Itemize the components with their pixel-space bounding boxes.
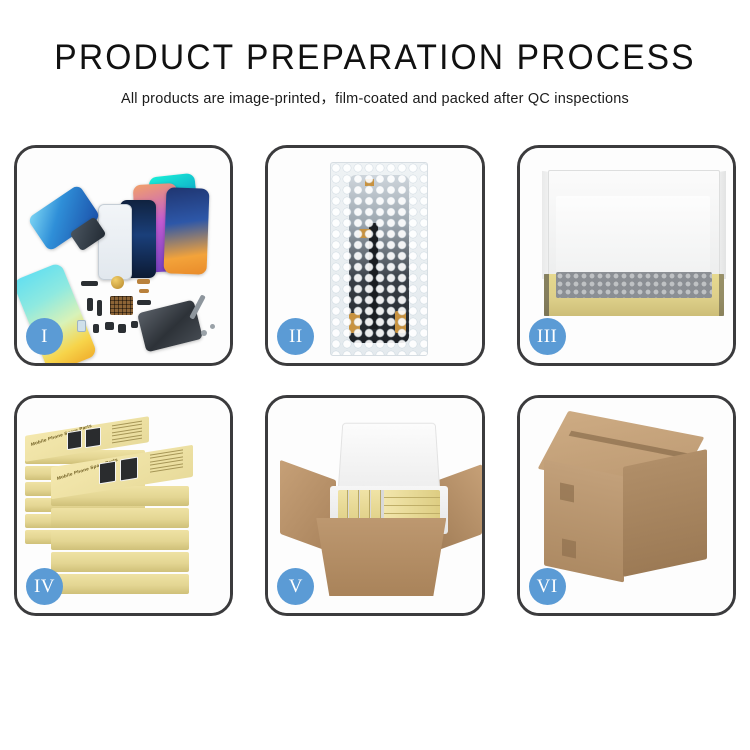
- bubble-wrap-inside-box: [556, 272, 712, 298]
- screw-part-2: [210, 324, 215, 329]
- step-panel-5: V: [265, 395, 484, 616]
- spare-part-bar-6: [105, 322, 114, 330]
- inner-box-front-l3: [51, 530, 189, 550]
- foam-sheet: [556, 196, 710, 278]
- box-corner-left: [544, 274, 549, 316]
- step-panel-2: II: [265, 145, 484, 366]
- spare-part-bar-3: [97, 300, 102, 316]
- inner-box-front-l4: [51, 552, 189, 572]
- product-preparation-infographic: PRODUCT PREPARATION PROCESS All products…: [0, 0, 750, 750]
- step-panel-4: Mobile Phone Spare Parts Mobile Phone Sp…: [14, 395, 233, 616]
- spare-part-sensor: [77, 320, 86, 332]
- spare-part-bar-4: [137, 300, 151, 305]
- step-badge-6: VI: [529, 568, 566, 605]
- phone-screen-orange: [164, 187, 210, 274]
- ic-chip-grid: [110, 296, 133, 315]
- box-corner-right: [719, 274, 724, 316]
- inner-box-front-l2: [51, 508, 189, 528]
- bubble-wrap-bag: [330, 162, 428, 356]
- spare-part-bar-2: [87, 298, 93, 311]
- bubble-texture: [331, 163, 427, 355]
- inner-box-horizontal-1: [384, 490, 440, 498]
- spare-part-bar-7: [118, 324, 126, 333]
- step-badge-1: I: [26, 318, 63, 355]
- spare-part-bar-8: [131, 321, 138, 328]
- process-steps-grid: I II: [14, 145, 736, 616]
- copper-shield-part: [111, 276, 124, 289]
- box-print-phone-back-2: [85, 427, 101, 449]
- inner-box-front-l5: [51, 574, 189, 594]
- step-badge-4: IV: [26, 568, 63, 605]
- step-panel-3: III: [517, 145, 736, 366]
- page-title: PRODUCT PREPARATION PROCESS: [15, 38, 735, 78]
- step-panel-6: VI: [517, 395, 736, 616]
- carton-front-face: [544, 459, 624, 582]
- box-print-phone-front-1: [99, 461, 116, 485]
- spare-part-gold-2: [139, 289, 149, 293]
- foam-lid: [338, 423, 441, 495]
- carton-tape-lower: [562, 539, 576, 559]
- carton-tape-upper: [560, 483, 574, 503]
- box-print-phone-front-2: [120, 457, 138, 482]
- carton-side-face: [623, 449, 707, 577]
- screw-part-1: [201, 330, 207, 336]
- page-subtitle: All products are image-printed，film-coat…: [0, 87, 750, 108]
- spare-part-bar-5: [93, 324, 99, 333]
- spare-part-gold-1: [137, 279, 150, 284]
- header: PRODUCT PREPARATION PROCESS All products…: [0, 0, 750, 108]
- inner-box-horizontal-2: [384, 498, 440, 506]
- inner-box-horizontal-3: [384, 506, 440, 514]
- step-badge-3: III: [529, 318, 566, 355]
- box-print-phone-back-1: [67, 430, 82, 450]
- process-row-top: I II: [14, 145, 736, 366]
- carton-body: [316, 518, 446, 596]
- phone-glass-panel: [98, 204, 132, 280]
- spare-part-bar-1: [81, 281, 98, 286]
- process-row-bottom: Mobile Phone Spare Parts Mobile Phone Sp…: [14, 395, 736, 616]
- step-panel-1: I: [14, 145, 233, 366]
